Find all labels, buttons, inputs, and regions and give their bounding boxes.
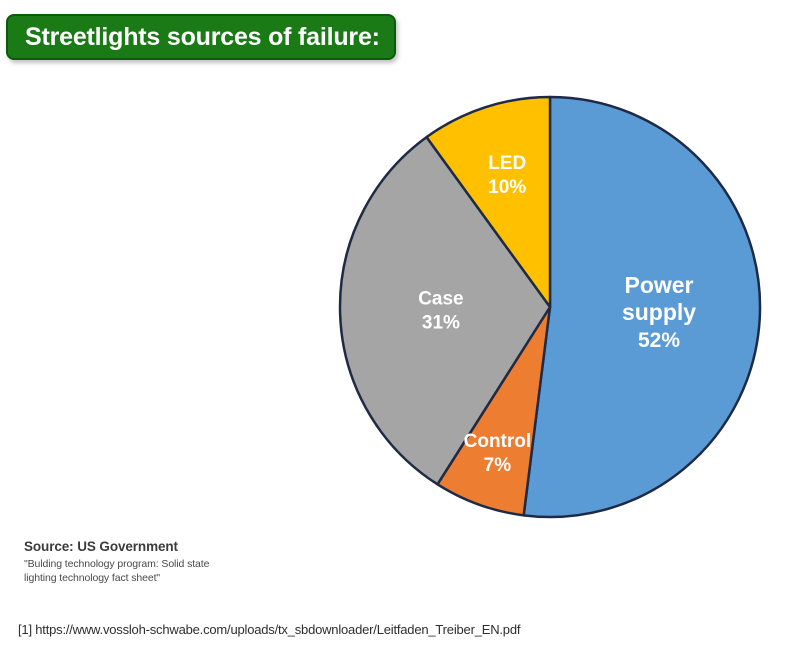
pie-label-percent: 10% xyxy=(488,177,526,198)
pie-label-name: supply xyxy=(622,299,696,325)
pie-label-name: Control xyxy=(464,431,532,452)
pie-label-group: Powersupply52%Control7%Case31%LED10% xyxy=(418,153,696,476)
pie-slice-led[interactable] xyxy=(427,97,550,307)
pie-label-percent: 7% xyxy=(484,455,512,476)
page-title: Streetlights sources of failure: xyxy=(8,23,380,52)
pie-label-percent: 31% xyxy=(422,312,460,333)
source-block: Source: US Government "Bulding technolog… xyxy=(24,538,344,585)
footnote-reference-link[interactable]: [1] https://www.vossloh-schwabe.com/uplo… xyxy=(18,622,520,637)
source-title: Source: US Government xyxy=(24,538,344,555)
source-subtitle-line-2: lighting technology fact sheet" xyxy=(24,571,344,585)
source-subtitle-line-1: "Bulding technology program: Solid state xyxy=(24,557,344,571)
pie-label-name: Power xyxy=(624,272,693,298)
pie-slice-power-supply[interactable] xyxy=(524,97,760,517)
pie-label-percent: 52% xyxy=(638,329,680,352)
pie-slice-group xyxy=(340,97,760,517)
pie-label-name: LED xyxy=(488,153,526,174)
source-subtitle: "Bulding technology program: Solid state… xyxy=(24,557,344,585)
pie-label-name: Case xyxy=(418,288,463,309)
pie-slice-control[interactable] xyxy=(437,307,550,515)
pie-slice-case[interactable] xyxy=(340,137,550,484)
slide-title-banner: Streetlights sources of failure: xyxy=(6,14,396,60)
